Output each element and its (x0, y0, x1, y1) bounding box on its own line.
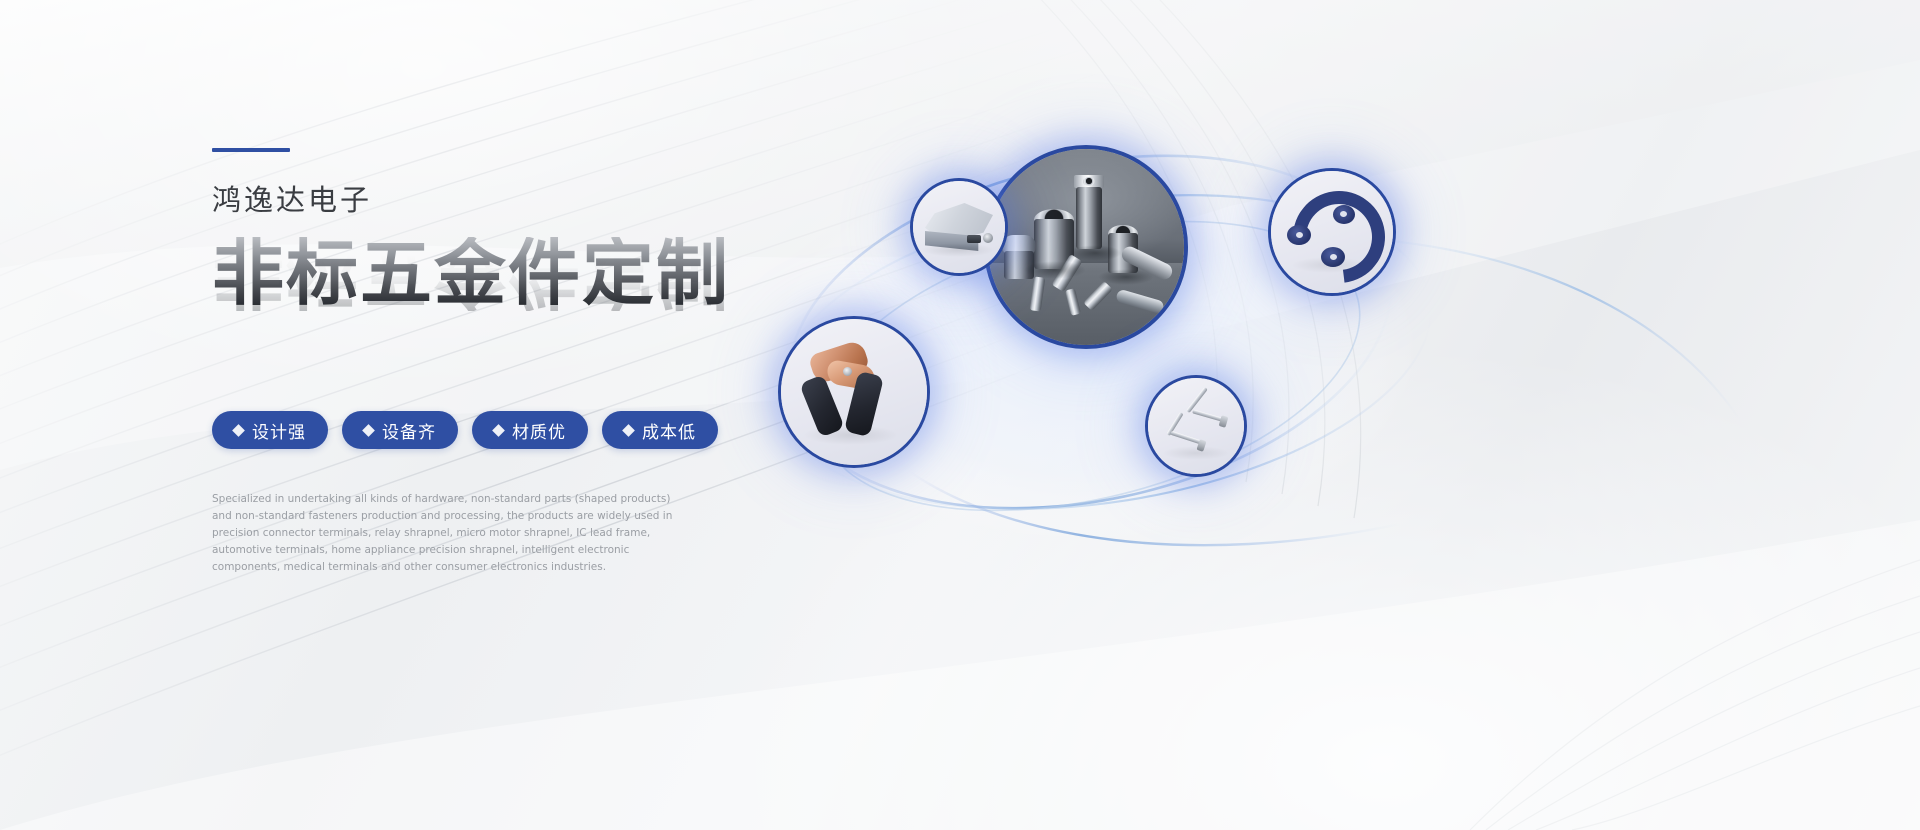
feature-tag-label: 设备齐 (382, 418, 436, 443)
feature-tag-list: 设计强 设备齐 材质优 成本低 (212, 411, 852, 449)
product-showcase (760, 120, 1880, 680)
copper-clamp-scene (781, 319, 927, 465)
node-blue-retaining-clip[interactable] (1268, 168, 1396, 296)
feature-tag-label: 材质优 (512, 418, 566, 443)
diamond-icon (622, 424, 635, 437)
precision-parts-scene (988, 149, 1184, 345)
diamond-icon (232, 424, 245, 437)
brand-name: 鸿逸达电子 (212, 186, 852, 215)
feature-tag-design[interactable]: 设计强 (212, 411, 328, 449)
feature-tag-cost[interactable]: 成本低 (602, 411, 718, 449)
page-title: 非标五金件定制 (212, 237, 852, 309)
node-precision-machined-parts[interactable] (984, 145, 1188, 349)
feature-tag-label: 设计强 (252, 418, 306, 443)
accent-rule (212, 148, 290, 152)
feature-tag-label: 成本低 (642, 418, 696, 443)
hero-copy: 鸿逸达电子 非标五金件定制 非标五金件定制 设计强 设备齐 材质优 成本低 (212, 148, 852, 576)
feature-tag-material[interactable]: 材质优 (472, 411, 588, 449)
node-bent-metal-pins[interactable] (1145, 375, 1247, 477)
description-paragraph: Specialized in undertaking all kinds of … (212, 491, 682, 576)
feature-tag-equipment[interactable]: 设备齐 (342, 411, 458, 449)
bent-pins-scene (1148, 378, 1244, 474)
headline-block: 非标五金件定制 非标五金件定制 (212, 237, 852, 365)
hero-banner: 鸿逸达电子 非标五金件定制 非标五金件定制 设计强 设备齐 材质优 成本低 (0, 0, 1920, 830)
retaining-clip-scene (1271, 171, 1393, 293)
node-copper-battery-clamp[interactable] (778, 316, 930, 468)
diamond-icon (362, 424, 375, 437)
metal-enclosure-scene (913, 181, 1005, 273)
node-metal-enclosure[interactable] (910, 178, 1008, 276)
diamond-icon (492, 424, 505, 437)
